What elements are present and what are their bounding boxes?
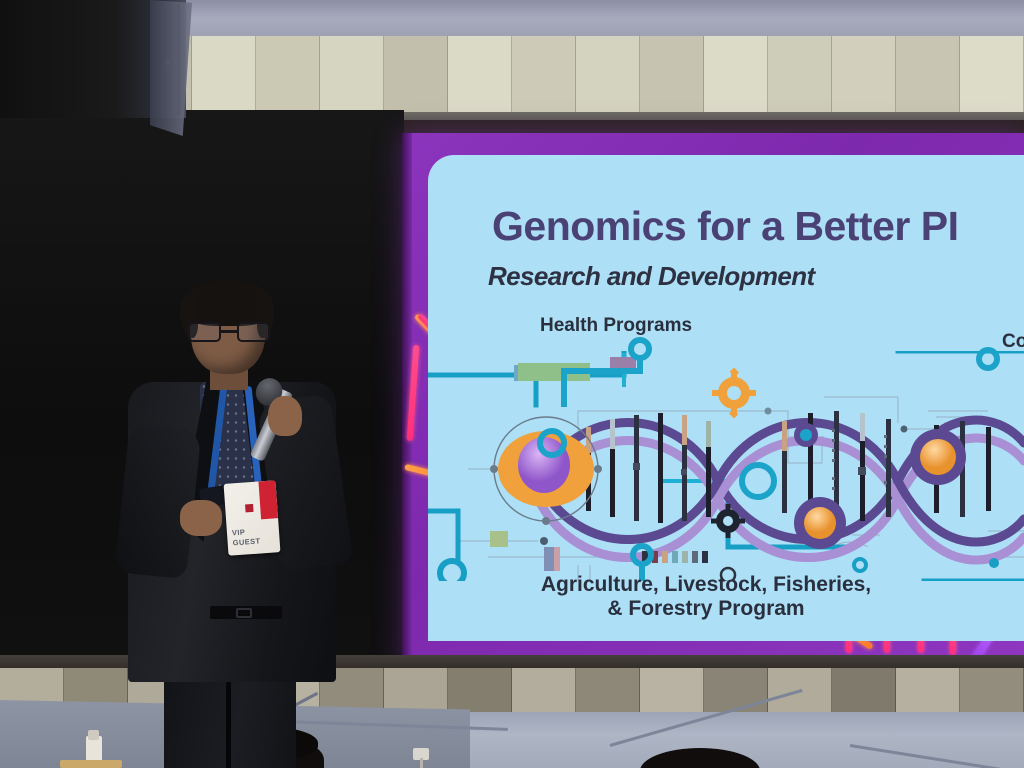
camera-rig [60,760,122,768]
speaker-leg-gap [226,678,231,768]
water-bottle-cap [88,730,99,740]
label-agriculture-line1: Agriculture, Livestock, Fisheries, [506,573,906,597]
speaker-person: VIP GUEST [118,286,348,700]
label-health-programs: Health Programs [540,315,692,337]
connector-community-icon [974,345,1014,385]
slide-subtitle: Research and Development [488,261,815,292]
presentation-scene: Genomics for a Better PI Research and De… [0,0,1024,768]
label-agriculture-program: Agriculture, Livestock, Fisheries, & For… [506,573,906,620]
speaker-right-hand [268,396,302,436]
wall-strip-above-screen [404,120,1024,134]
badge-logo-mark [245,504,254,513]
speaker-left-hand [180,500,222,536]
slide-title: Genomics for a Better PI [492,203,958,250]
tripod-leg [420,758,423,768]
badge-text: VIP GUEST [232,526,277,548]
projection-screen: Genomics for a Better PI Research and De… [402,133,1024,671]
badge-red-stripe [258,480,278,519]
label-agriculture-line2: & Forestry Program [506,597,906,621]
slide-content: Genomics for a Better PI Research and De… [428,155,1024,641]
belt-buckle [236,608,252,618]
dna-helix-icon [428,351,1024,581]
connector-health-icon [548,337,678,407]
eyeglasses-icon [187,322,271,342]
vip-guest-badge: VIP GUEST [224,480,281,555]
